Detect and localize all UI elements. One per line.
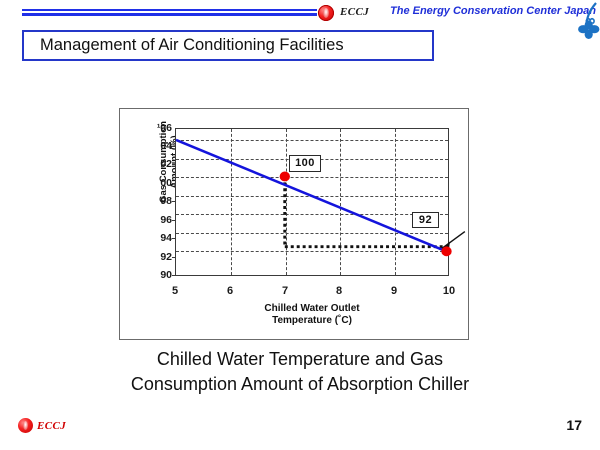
x-axis-title-line2: Temperature (˚C)	[272, 315, 352, 326]
chart-plot-area	[175, 128, 449, 276]
x-tick-label: 9	[381, 285, 407, 297]
eccj-logo-icon	[318, 5, 334, 21]
data-marker-92	[441, 246, 451, 256]
figure-caption-line2: Consumption Amount of Absorption Chiller	[131, 374, 469, 394]
data-callout-92: 92	[412, 212, 439, 228]
x-tick-label: 10	[436, 285, 462, 297]
chart-plot-inner	[176, 129, 448, 275]
header-rule	[22, 9, 317, 17]
page-number: 17	[566, 417, 582, 433]
y-tick-label: 02	[138, 159, 172, 169]
y-tick-label: ¹06	[138, 123, 172, 133]
x-tick-label: 5	[162, 285, 188, 297]
footer-eccj-logo-icon	[18, 418, 33, 433]
y-tick-label: 98	[138, 196, 172, 206]
figure-caption-line1: Chilled Water Temperature and Gas	[157, 349, 443, 369]
y-tick-label: 92	[138, 252, 172, 262]
data-marker-100	[280, 172, 290, 182]
chart-y-axis-labels: ¹06 04 02 00 98 96 94 92 90	[134, 109, 172, 341]
page-title: Management of Air Conditioning Facilitie…	[40, 36, 344, 55]
y-tick-label: 96	[138, 215, 172, 225]
data-callout-100: 100	[289, 155, 321, 172]
figure-caption: Chilled Water Temperature and Gas Consum…	[0, 347, 600, 397]
y-tick-label: 94	[138, 233, 172, 243]
header-rule-line-bottom	[22, 13, 317, 16]
y-tick-label: 04	[138, 141, 172, 151]
footer-eccj-logo-text: ECCJ	[37, 420, 66, 432]
x-tick-label: 8	[326, 285, 352, 297]
eccj-logo-text: ECCJ	[340, 6, 369, 18]
x-tick-label: 6	[217, 285, 243, 297]
clover-logo-icon	[566, 2, 600, 46]
chart-x-axis-title: Chilled Water Outlet Temperature (˚C)	[175, 303, 449, 327]
y-tick-label: 90	[138, 270, 172, 280]
chart-data-overlay	[176, 129, 448, 275]
x-tick-label: 7	[272, 285, 298, 297]
header-rule-line-top	[22, 9, 317, 11]
chart-x-axis-labels: 5 6 7 8 9 10	[120, 285, 470, 301]
x-axis-title-line1: Chilled Water Outlet	[264, 303, 359, 314]
slide-header: ECCJ The Energy Conservation Center Japa…	[0, 0, 600, 26]
y-tick-label: 00	[138, 178, 172, 188]
slide-title-box: Management of Air Conditioning Facilitie…	[22, 30, 434, 61]
